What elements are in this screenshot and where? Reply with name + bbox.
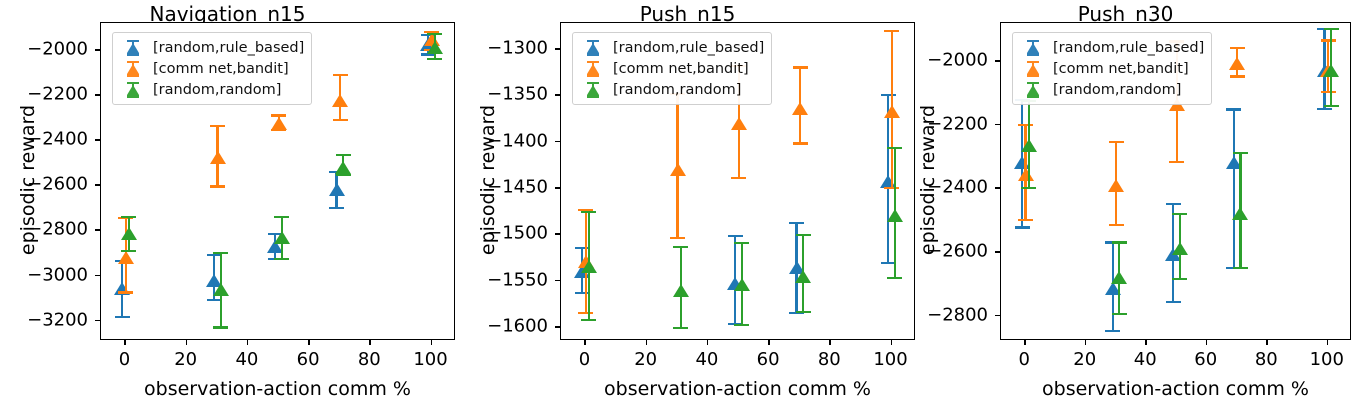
legend-cap-lower [127,53,139,55]
legend-cap-lower [587,74,599,76]
x-tick-label: 100 [1310,349,1344,370]
legend-marker-3-icon [118,80,148,100]
chart-panel-3: Push_n30−2000−2200−2400−2600−28000204060… [900,0,1356,400]
legend-label: [random,rule_based] [613,40,764,56]
x-tick-label: 20 [174,349,197,370]
y-tick-mark [95,184,100,186]
y-axis-label: episodic reward [17,100,39,260]
x-tick-mark [1327,340,1329,345]
legend-item: [random,random] [118,79,304,100]
data-marker-triangle [1111,271,1127,284]
legend-label: [comm net,bandit] [153,61,289,77]
legend-cap-upper [587,40,599,42]
x-tick-mark [247,340,249,345]
legend-cap-upper [127,61,139,63]
legend-label: [random,random] [153,82,281,98]
error-bar-cap-upper [734,242,749,244]
y-tick-mark [95,275,100,277]
error-bar-cap-lower [796,311,811,313]
figure-root: Navigation_n15−2000−2200−2400−2600−2800−… [0,0,1356,400]
x-tick-label: 0 [579,349,590,370]
x-tick-mark [369,340,371,345]
legend-cap-lower [1027,74,1039,76]
y-tick-mark [95,139,100,141]
legend-cap-upper [587,82,599,84]
data-marker-triangle [1172,242,1188,255]
x-tick-mark [1024,340,1026,345]
legend-cap-lower [127,74,139,76]
legend-cap-upper [127,82,139,84]
legend-cap-lower [127,95,139,97]
legend-marker-2-icon [578,59,608,79]
data-marker-triangle [274,231,290,244]
legend-item: [random,random] [578,79,764,100]
x-tick-label: 80 [818,349,841,370]
x-tick-label: 0 [1018,349,1029,370]
legend-triangle [127,64,139,74]
error-bar-cap-upper [274,216,289,218]
y-tick-label: −2000 [4,39,88,60]
legend-item: [random,rule_based] [578,37,764,58]
error-bar-cap-upper [581,211,596,213]
x-tick-mark [584,340,586,345]
data-marker-triangle [1323,64,1339,77]
y-tick-label: −2000 [904,50,988,71]
legend: [random,rule_based][comm net,bandit][ran… [572,32,772,105]
chart-panel-1: Navigation_n15−2000−2200−2400−2600−2800−… [0,0,460,400]
data-marker-triangle [335,161,351,174]
y-tick-mark [555,326,560,328]
legend: [random,rule_based][comm net,bandit][ran… [112,32,312,105]
legend-cap-lower [587,95,599,97]
data-marker-triangle [734,278,750,291]
x-tick-label: 60 [1194,349,1217,370]
error-bar-cap-lower [336,174,351,176]
y-tick-mark [95,229,100,231]
legend-label: [comm net,bandit] [613,61,749,77]
error-bar-cap-upper [1172,213,1187,215]
legend-label: [random,random] [613,82,741,98]
error-bar-cap-lower [427,58,442,60]
legend-item: [random,random] [1018,79,1204,100]
x-axis-label: observation-action comm % [100,378,455,400]
error-bar-point [331,23,355,341]
legend-item: [comm net,bandit] [1018,58,1204,79]
y-tick-mark [555,141,560,143]
error-bar-point [791,23,815,341]
legend-cap-upper [127,40,139,42]
legend-marker-1-icon [1018,38,1048,58]
data-marker-triangle [673,284,689,297]
legend-triangle [587,43,599,53]
y-tick-mark [555,233,560,235]
x-tick-mark [829,340,831,345]
error-bar-cap-lower [673,327,688,329]
y-tick-mark [995,315,1000,317]
legend-item: [random,rule_based] [1018,37,1204,58]
legend-marker-2-icon [118,59,148,79]
y-tick-mark [555,94,560,96]
y-tick-label: −1550 [464,269,548,290]
legend-marker-3-icon [578,80,608,100]
error-bar-point [423,23,447,341]
data-marker-triangle [581,260,597,273]
legend-triangle [587,64,599,74]
data-marker-triangle [213,283,229,296]
y-tick-label: −1600 [464,316,548,337]
x-tick-label: 40 [235,349,258,370]
y-tick-label: −3000 [4,264,88,285]
legend-label: [comm net,bandit] [1053,61,1189,77]
legend-triangle [587,85,599,95]
legend-marker-1-icon [118,38,148,58]
error-bar-cap-upper [1112,241,1127,243]
data-marker-triangle [1021,139,1037,152]
error-bar-cap-lower [1233,267,1248,269]
x-tick-mark [768,340,770,345]
x-axis-label: observation-action comm % [1000,378,1351,400]
error-bar-cap-lower [1021,187,1036,189]
x-tick-mark [646,340,648,345]
error-bar-cap-lower [734,324,749,326]
error-bar-cap-upper [213,252,228,254]
legend-triangle [1027,43,1039,53]
x-tick-mark [308,340,310,345]
data-marker-triangle [427,41,443,54]
y-tick-label: −2800 [904,304,988,325]
y-tick-mark [995,251,1000,253]
error-bar-cap-lower [1112,313,1127,315]
x-tick-label: 20 [1073,349,1096,370]
error-bar-cap-lower [274,258,289,260]
data-marker-triangle [121,227,137,240]
error-bar-point [1228,23,1252,341]
data-marker-triangle [1232,207,1248,220]
x-tick-label: 80 [358,349,381,370]
legend-item: [comm net,bandit] [578,58,764,79]
legend-triangle [1027,64,1039,74]
x-tick-mark [186,340,188,345]
legend-marker-3-icon [1018,80,1048,100]
legend-cap-upper [587,61,599,63]
x-tick-label: 60 [297,349,320,370]
x-tick-mark [431,340,433,345]
x-axis-label: observation-action comm % [560,378,915,400]
y-tick-label: −1300 [464,37,548,58]
x-tick-mark [707,340,709,345]
y-axis-label: episodic reward [477,100,499,260]
x-tick-label: 40 [1134,349,1157,370]
error-bar-cap-upper [796,234,811,236]
legend-cap-lower [1027,53,1039,55]
x-tick-mark [1206,340,1208,345]
legend-triangle [1027,85,1039,95]
legend-cap-lower [1027,95,1039,97]
legend-item: [comm net,bandit] [118,58,304,79]
error-bar-cap-lower [1172,278,1187,280]
x-tick-mark [1266,340,1268,345]
error-bar-point [1319,23,1343,341]
y-tick-mark [95,49,100,51]
legend-triangle [127,43,139,53]
x-tick-mark [124,340,126,345]
x-tick-label: 20 [634,349,657,370]
x-tick-label: 40 [695,349,718,370]
data-marker-triangle [795,270,811,283]
y-tick-mark [995,187,1000,189]
x-tick-label: 80 [1255,349,1278,370]
legend-cap-lower [587,53,599,55]
error-bar-cap-upper [336,154,351,156]
legend-marker-1-icon [578,38,608,58]
legend-cap-upper [1027,40,1039,42]
x-tick-mark [891,340,893,345]
x-tick-label: 60 [757,349,780,370]
error-bar-cap-upper [427,33,442,35]
legend-label: [random,rule_based] [153,40,304,56]
y-axis-label: episodic reward [917,100,939,260]
x-tick-mark [1085,340,1087,345]
y-tick-mark [995,60,1000,62]
x-tick-label: 0 [119,349,130,370]
error-bar-cap-upper [1233,152,1248,154]
y-tick-label: −3200 [4,309,88,330]
y-tick-mark [95,320,100,322]
chart-panel-2: Push_n15−1300−1350−1400−1450−1500−1550−1… [460,0,920,400]
legend-label: [random,random] [1053,82,1181,98]
x-tick-mark [1145,340,1147,345]
legend: [random,rule_based][comm net,bandit][ran… [1012,32,1212,105]
y-tick-mark [995,124,1000,126]
error-bar-cap-upper [673,246,688,248]
error-bar-cap-lower [1324,105,1339,107]
legend-label: [random,rule_based] [1053,40,1204,56]
y-tick-mark [555,48,560,50]
error-bar-cap-lower [213,326,228,328]
legend-cap-upper [1027,82,1039,84]
legend-item: [random,rule_based] [118,37,304,58]
error-bar-cap-lower [581,319,596,321]
x-tick-label: 100 [413,349,447,370]
legend-triangle [127,85,139,95]
y-tick-mark [95,94,100,96]
error-bar-cap-upper [121,216,136,218]
legend-marker-2-icon [1018,59,1048,79]
error-bar-cap-lower [121,250,136,252]
y-tick-mark [555,280,560,282]
y-tick-mark [555,187,560,189]
legend-cap-upper [1027,61,1039,63]
error-bar-cap-upper [1324,28,1339,30]
